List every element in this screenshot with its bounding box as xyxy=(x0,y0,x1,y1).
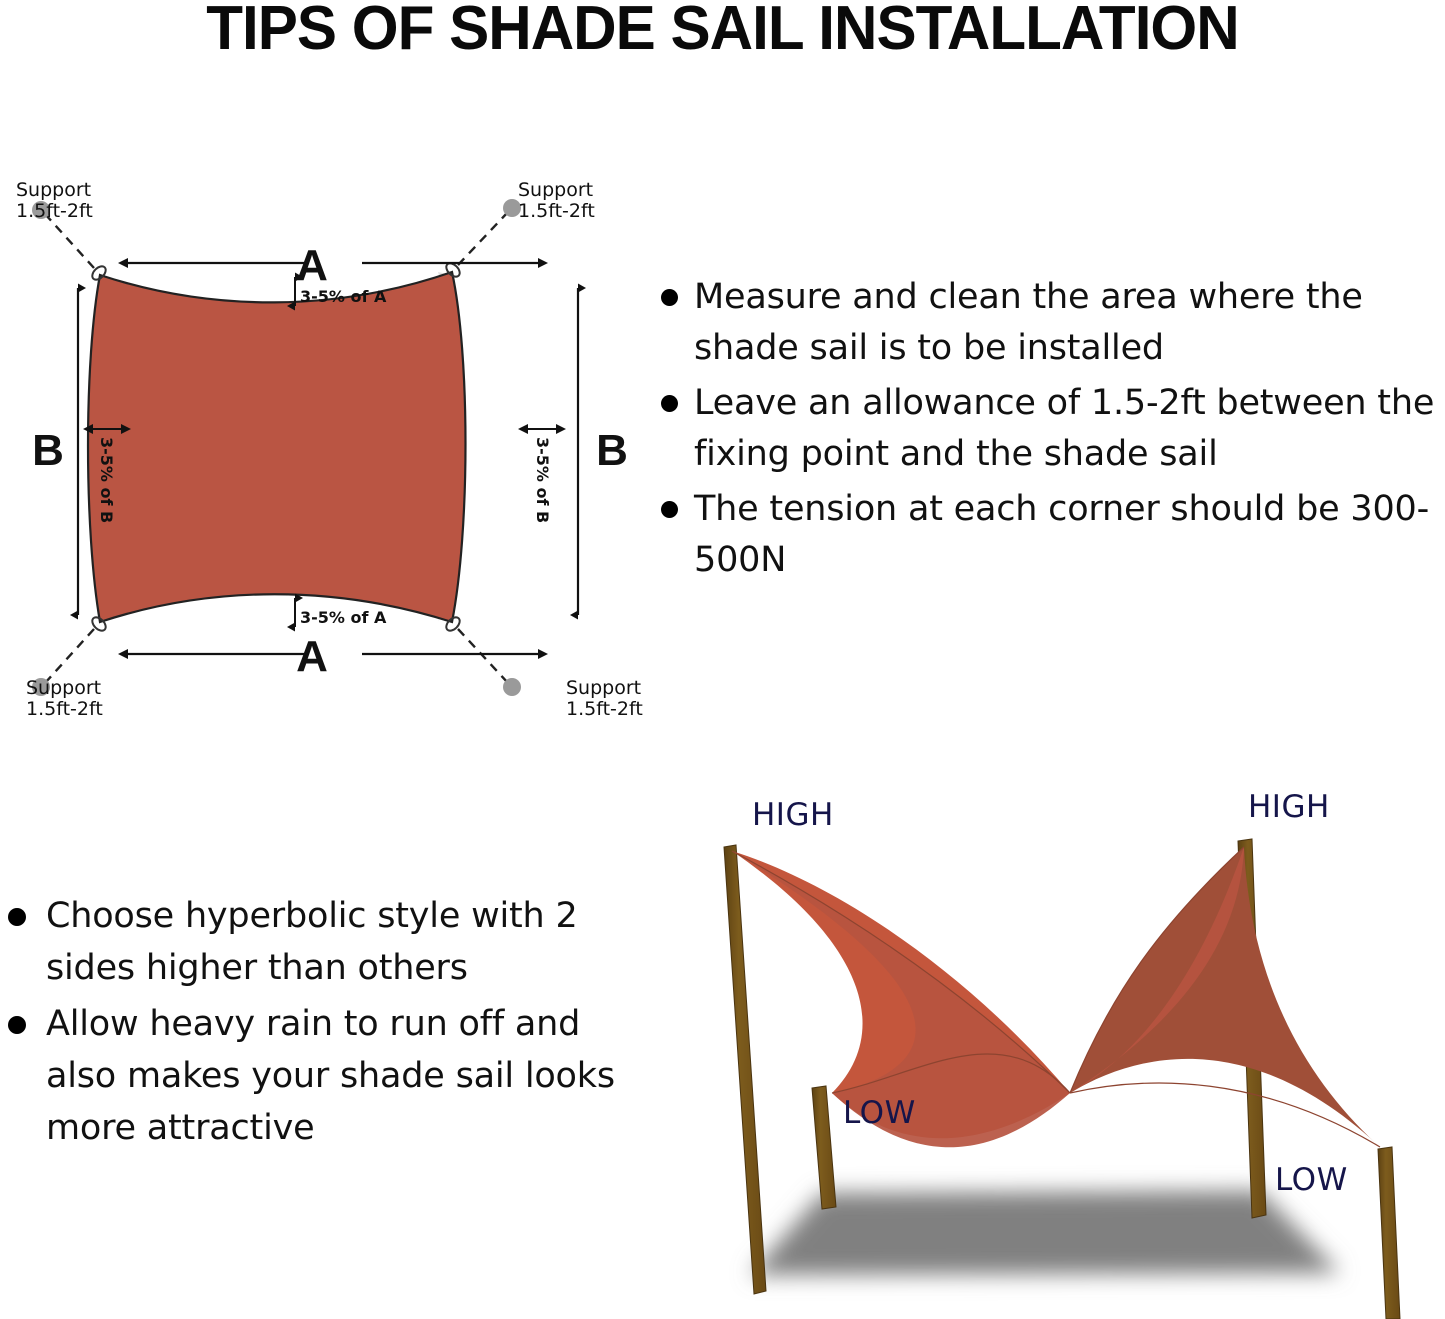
label-low-right: LOW xyxy=(1275,1162,1348,1198)
list-item: Allow heavy rain to run off and also mak… xyxy=(0,998,640,1154)
dimension-b-left: B xyxy=(32,288,78,615)
dimension-a-top: A xyxy=(128,241,538,290)
pole-low-right xyxy=(1378,1147,1400,1319)
support-bottom-left-line1: Support xyxy=(26,677,101,699)
label-high-right: HIGH xyxy=(1248,789,1330,825)
hyperbolic-sail-diagram: HIGH HIGH LOW LOW xyxy=(640,775,1445,1319)
list-item: Choose hyperbolic style with 2 sides hig… xyxy=(0,890,640,994)
dimension-b-right: B xyxy=(578,288,628,615)
tips-list-left: Choose hyperbolic style with 2 sides hig… xyxy=(0,890,640,1158)
support-top-left-line2: 1.5ft-2ft xyxy=(16,200,93,222)
tips-list-right: Measure and clean the area where the sha… xyxy=(648,272,1445,590)
dimension-a-bottom: A xyxy=(128,632,538,681)
support-top-right-line2: 1.5ft-2ft xyxy=(518,200,595,222)
dimension-a-top-label: A xyxy=(296,241,328,290)
curve-left-dimension: 3-5% of B xyxy=(93,429,121,523)
curve-bottom-label: 3-5% of A xyxy=(300,608,387,627)
support-top-left-line1: Support xyxy=(16,179,91,201)
rectangular-sail-diagram: Support 1.5ft-2ft Support 1.5ft-2ft Supp… xyxy=(0,160,660,730)
support-top-right-line1: Support xyxy=(518,179,593,201)
curve-left-label: 3-5% of B xyxy=(97,437,116,523)
label-high-left: HIGH xyxy=(752,797,834,833)
support-bottom-left-line2: 1.5ft-2ft xyxy=(26,698,103,720)
dimension-b-left-label: B xyxy=(32,426,64,475)
pole-high-left xyxy=(724,845,766,1294)
dimension-b-right-label: B xyxy=(596,426,628,475)
page-title: TIPS OF SHADE SAIL INSTALLATION xyxy=(22,0,1424,61)
support-bottom-right-line1: Support xyxy=(566,677,641,699)
label-low-left: LOW xyxy=(843,1095,916,1131)
list-item: Measure and clean the area where the sha… xyxy=(648,272,1445,374)
support-bottom-right-line2: 1.5ft-2ft xyxy=(566,698,643,720)
list-item: Leave an allowance of 1.5-2ft between th… xyxy=(648,378,1445,480)
shade-sail-fabric xyxy=(88,272,466,622)
sail-lobe-back-right xyxy=(1070,847,1380,1147)
dimension-a-bottom-label: A xyxy=(296,632,328,681)
curve-top-label: 3-5% of A xyxy=(300,287,387,306)
list-item: The tension at each corner should be 300… xyxy=(648,484,1445,586)
curve-right-label: 3-5% of B xyxy=(533,437,552,523)
pole-low-left xyxy=(812,1086,836,1209)
curve-right-dimension: 3-5% of B xyxy=(528,429,556,523)
